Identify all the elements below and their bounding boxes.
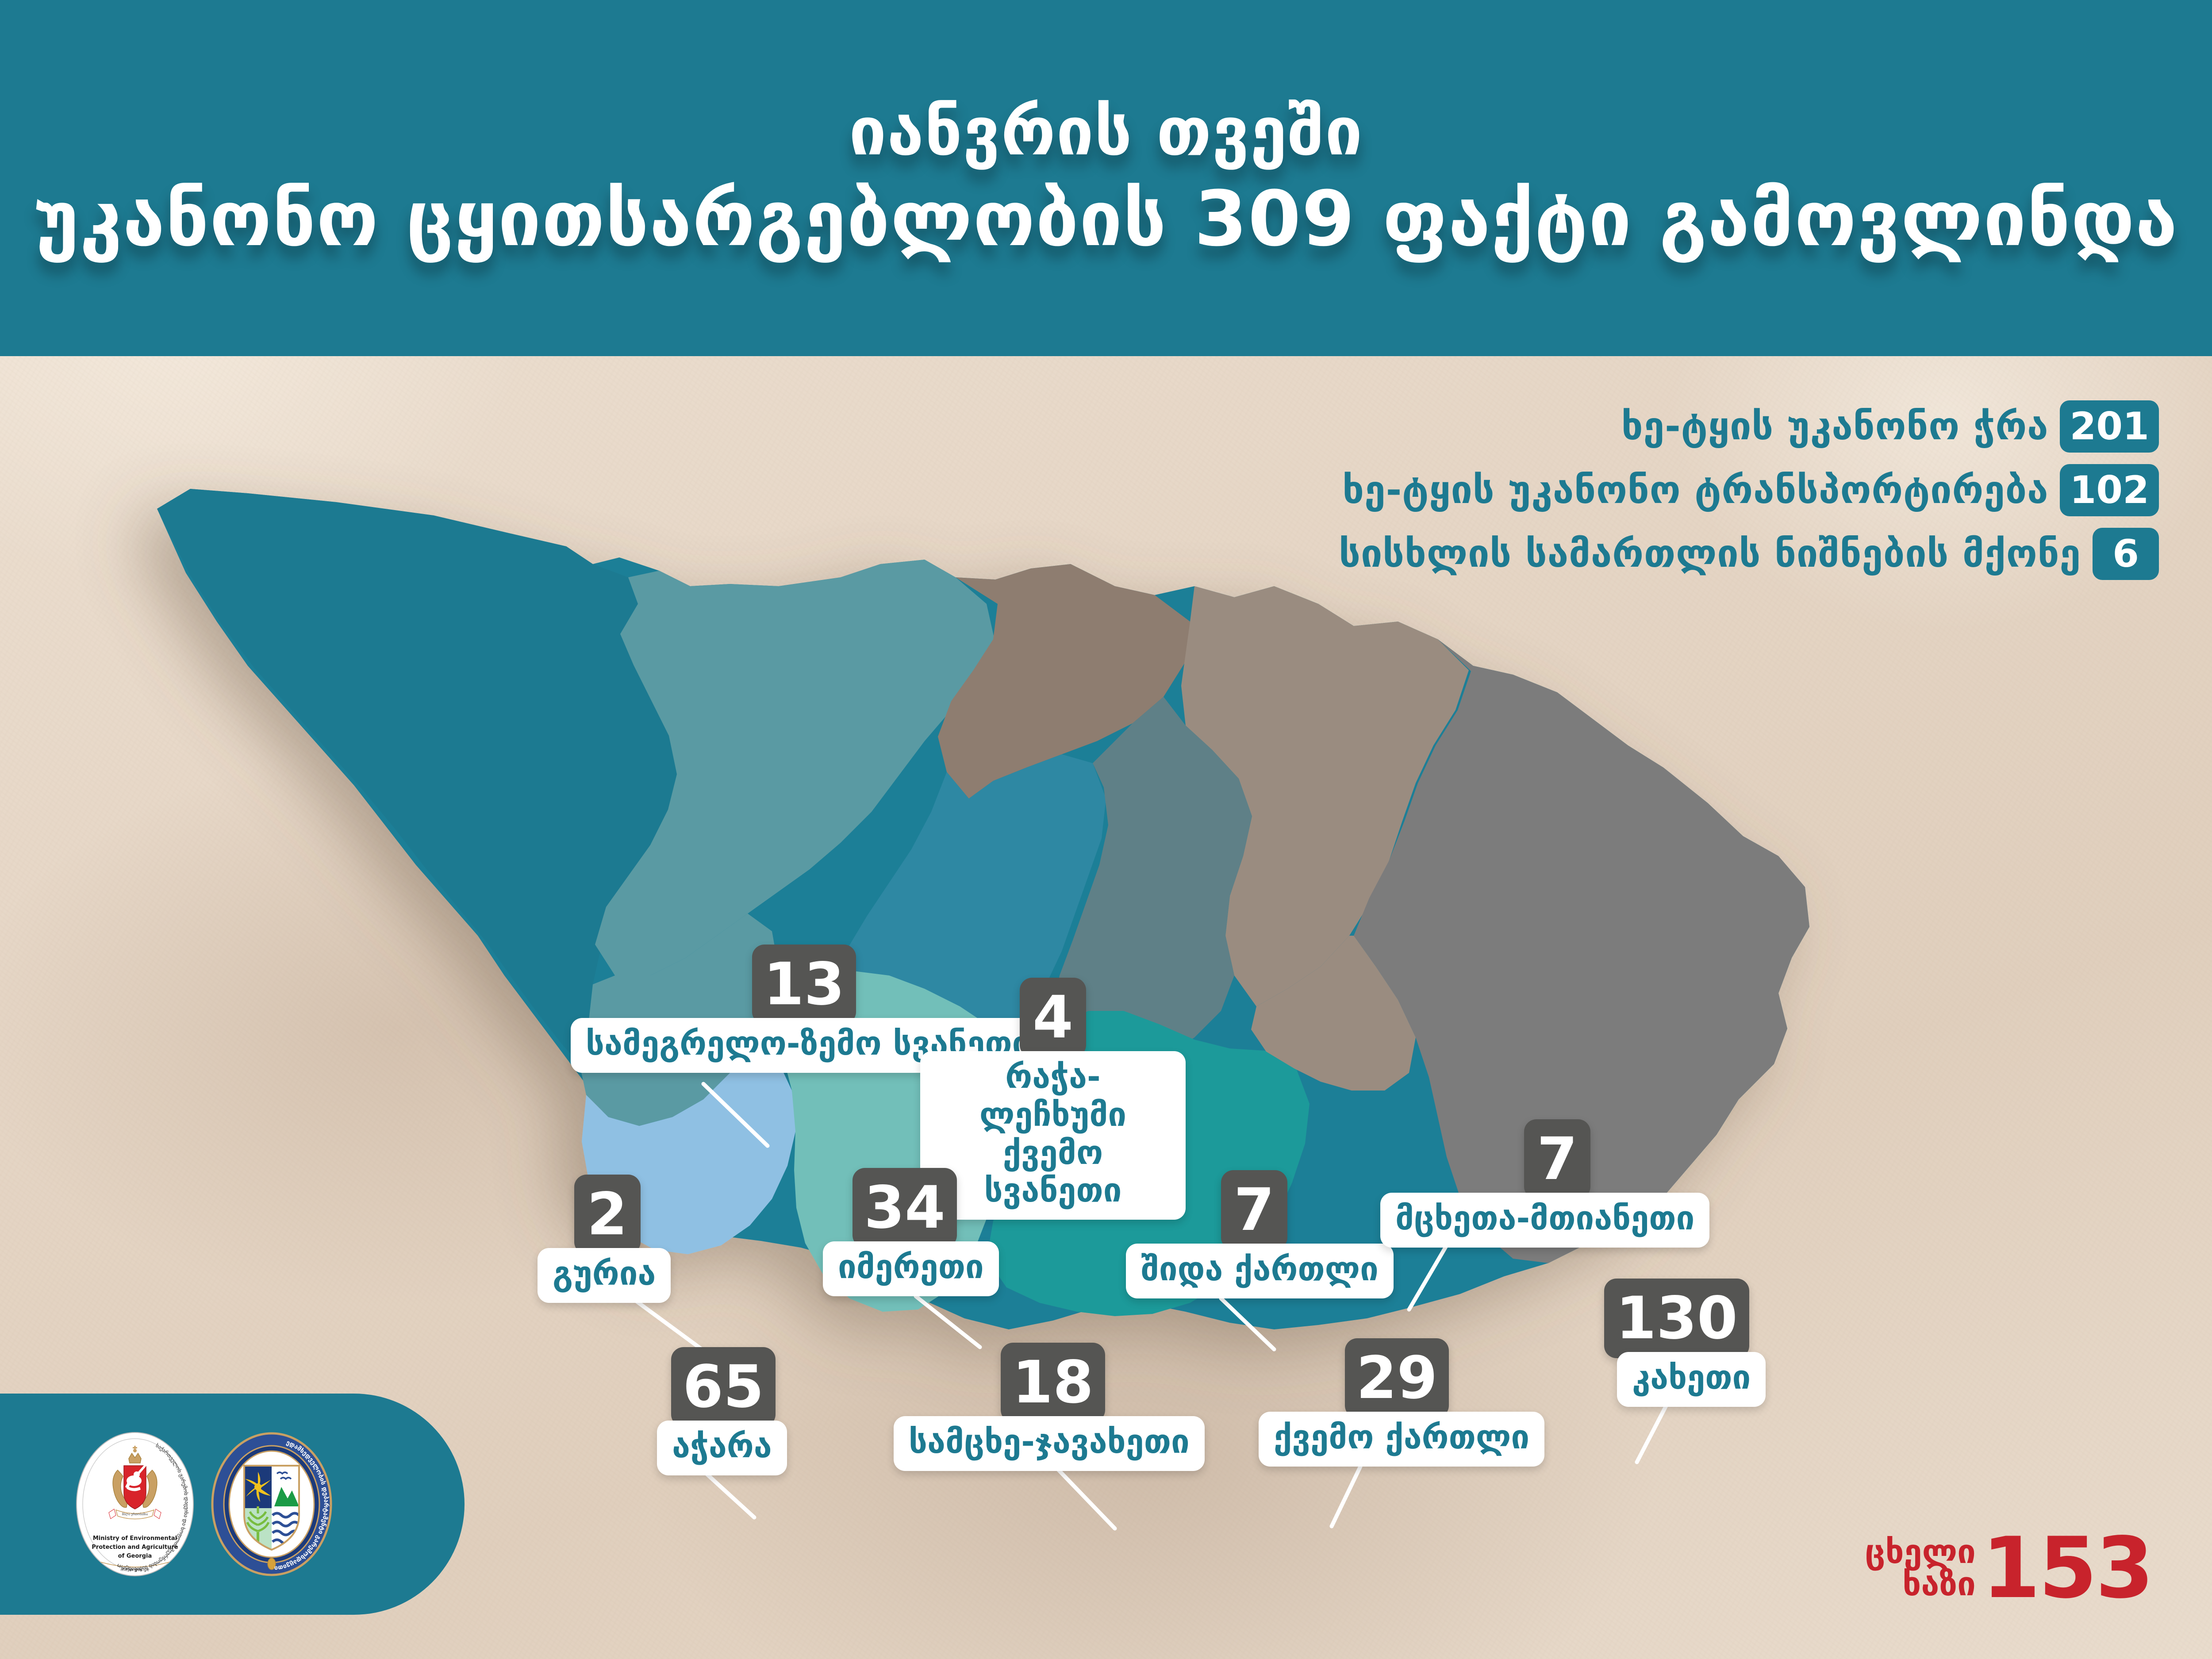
title-suffix: ფაქტი გამოვლინდა xyxy=(1356,174,2178,263)
callout-region-name-line1: რაჭა-ლეჩხუმი xyxy=(935,1058,1171,1134)
legend-value-badge: 201 xyxy=(2060,400,2159,453)
callout-value: 2 xyxy=(574,1175,641,1254)
callout-number-row: 130 xyxy=(1584,1279,1770,1358)
dept-seal-svg: ედამხედველობის დეპარტამენტი გარემოსდაცვი… xyxy=(210,1431,334,1577)
hotline-block: ცხელი ხაზი 153 xyxy=(1865,1530,2152,1606)
callout-kakheti[interactable]: 130 კახეთი xyxy=(1584,1279,1770,1407)
callout-value: 18 xyxy=(1001,1343,1105,1422)
callout-number-row: 4 xyxy=(920,978,1186,1057)
callout-value: 13 xyxy=(752,945,856,1024)
callout-number-row: 2 xyxy=(538,1175,677,1254)
callout-samtskhe[interactable]: 18 სამცხე-ჯავახეთი xyxy=(894,1343,1212,1471)
legend-row: ხე-ტყის უკანონო ტრანსპორტირება 102 xyxy=(1342,464,2159,516)
callout-number-row: 34 xyxy=(823,1168,987,1248)
callout-value: 7 xyxy=(1221,1170,1287,1250)
callout-value: 29 xyxy=(1345,1338,1449,1418)
hotline-label-line2: ხაზი xyxy=(1865,1568,1975,1601)
logo-panel: მბლა ერთობაშია Ministry of Environmental… xyxy=(0,1394,465,1615)
seal-motto: მბლა ერთობაშია xyxy=(122,1512,148,1516)
callout-guria[interactable]: 2 გურია xyxy=(538,1175,677,1303)
callout-number-row: 7 xyxy=(1126,1170,1382,1250)
callout-region-name: მცხეთა-მთიანეთი xyxy=(1380,1193,1709,1248)
callout-number-row: 29 xyxy=(1259,1338,1535,1418)
callout-region-name: სამცხე-ჯავახეთი xyxy=(894,1416,1205,1471)
mepa-ministry-seal: მბლა ერთობაშია Ministry of Environmental… xyxy=(75,1431,195,1577)
mepa-en-line-1: Ministry of Environmental xyxy=(93,1535,177,1542)
callout-value: 4 xyxy=(1020,978,1086,1057)
callout-region-name: შიდა ქართლი xyxy=(1126,1244,1394,1298)
legend-label: ხე-ტყის უკანონო ტრანსპორტირება xyxy=(1342,471,2048,509)
legend-value-badge: 102 xyxy=(2060,464,2159,516)
mepa-en-line-3: of Georgia xyxy=(118,1553,152,1559)
callout-adjara[interactable]: 65 აჭარა xyxy=(646,1347,801,1475)
callout-value: 65 xyxy=(671,1347,776,1427)
hotline-label-line1: ცხელი xyxy=(1865,1536,1975,1568)
callout-region-name: იმერეთი xyxy=(823,1241,999,1296)
callout-number-row: 18 xyxy=(894,1343,1212,1422)
legend-row: ხე-ტყის უკანონო ჭრა 201 xyxy=(1621,400,2159,453)
environmental-supervision-seal: ედამხედველობის დეპარტამენტი გარემოსდაცვი… xyxy=(210,1431,334,1577)
legend: ხე-ტყის უკანონო ჭრა 201 ხე-ტყის უკანონო … xyxy=(1339,400,2159,580)
mepa-en-line-2: Protection and Agriculture xyxy=(92,1544,178,1551)
legend-row: სისხლის სამართლის ნიშნების მქონე 6 xyxy=(1339,528,2159,580)
callout-number-row: 7 xyxy=(1380,1119,1734,1199)
legend-label: სისხლის სამართლის ნიშნების მქონე xyxy=(1339,535,2081,573)
callout-region-name: გურია xyxy=(538,1248,671,1303)
page-title-line-2: უკანონო ცყითსარგებლობის 309 ფაქტი გამოვლ… xyxy=(0,180,2212,259)
callout-number-row: 65 xyxy=(646,1347,801,1427)
callout-region-name: აჭარა xyxy=(657,1421,787,1475)
callout-imereti[interactable]: 34 იმერეთი xyxy=(823,1168,999,1296)
callout-value: 130 xyxy=(1604,1279,1749,1358)
callout-value: 34 xyxy=(853,1168,957,1248)
callout-shida[interactable]: 7 შიდა ქართლი xyxy=(1126,1170,1394,1298)
title-total-count: 309 xyxy=(1194,174,1356,263)
hotline-label: ცხელი ხაზი xyxy=(1865,1536,1975,1600)
page-title-line-1: იანვრის თვეში xyxy=(0,97,2212,166)
hotline-number: 153 xyxy=(1982,1530,2152,1606)
mepa-seal-svg: მბლა ერთობაშია Ministry of Environmental… xyxy=(75,1431,195,1577)
header-inner: იანვრის თვეში უკანონო ცყითსარგებლობის 30… xyxy=(0,97,2212,259)
header-banner: იანვრის თვეში უკანონო ცყითსარგებლობის 30… xyxy=(0,0,2212,356)
legend-label: ხე-ტყის უკანონო ჭრა xyxy=(1621,407,2049,445)
callout-region-name: კახეთი xyxy=(1617,1352,1766,1407)
callout-kvemo[interactable]: 29 ქვემო ქართლი xyxy=(1259,1338,1544,1467)
legend-value-badge: 6 xyxy=(2093,528,2159,580)
title-prefix: უკანონო ცყითსარგებლობის xyxy=(34,174,1194,263)
callout-value: 7 xyxy=(1524,1119,1590,1199)
callout-region-name: ქვემო ქართლი xyxy=(1259,1412,1544,1467)
callout-mtskheta[interactable]: 7 მცხეთა-მთიანეთი xyxy=(1380,1119,1734,1248)
